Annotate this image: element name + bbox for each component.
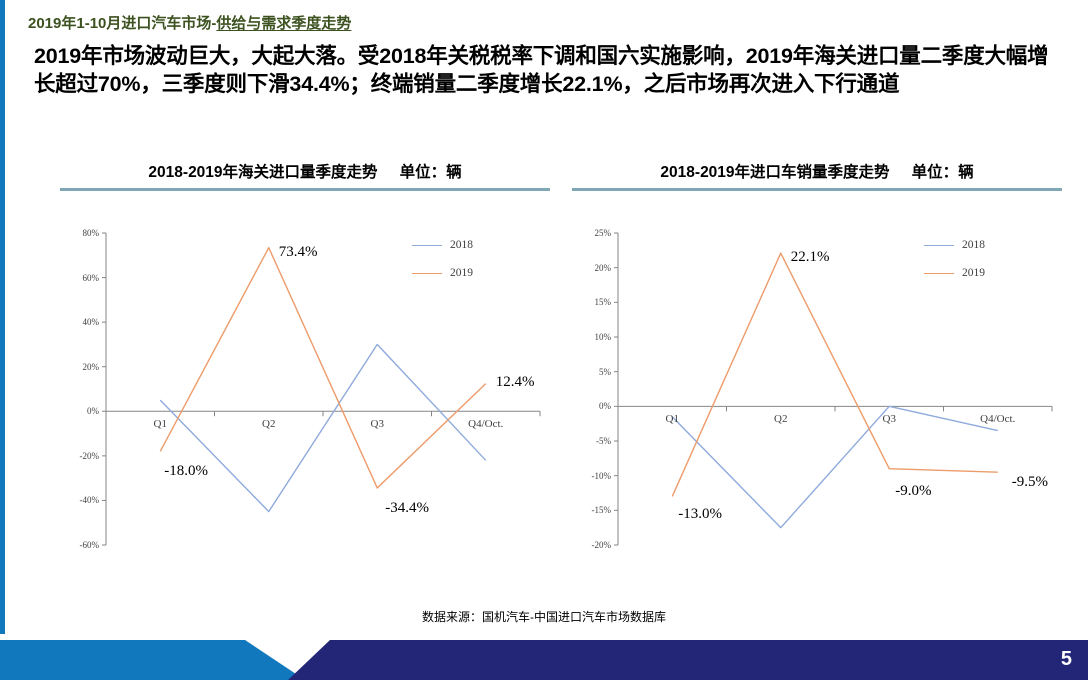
y-axis-tick-label: -40% [60,495,99,505]
x-axis-tick-label: Q1 [154,418,167,430]
footer-shapes [0,634,1088,680]
legend-label: 2018 [962,239,985,251]
data-point-label: 73.4% [279,244,318,261]
y-axis-tick-label: -20% [60,451,99,461]
kicker-underlined-text: 供给与需求季度走势 [216,15,351,32]
y-axis-tick-label: -10% [572,471,611,481]
footer-decoration [0,634,1088,680]
legend-label: 2019 [962,267,985,279]
y-axis-tick-label: 80% [60,228,99,238]
chart-legend: 20182019 [412,239,473,295]
legend-line-swatch [412,273,442,274]
kicker-plain-text: 2019年1-10月进口汽车市场- [28,15,216,32]
data-point-label: -34.4% [385,500,429,517]
data-point-label: -13.0% [678,506,722,523]
y-axis-tick-label: -60% [60,540,99,550]
legend-label: 2018 [450,239,473,251]
legend-item-2018[interactable]: 2018 [924,239,985,251]
page-number: 5 [1061,648,1072,671]
chart-unit-right: 单位：辆 [912,164,974,181]
chart-title-right-text: 2018-2019年进口车销量季度走势 [660,164,889,181]
data-point-label: 22.1% [791,249,830,266]
y-axis-tick-label: 0% [60,406,99,416]
legend-item-2018[interactable]: 2018 [412,239,473,251]
left-accent-stripe [0,0,5,634]
y-axis-tick-label: -5% [572,436,611,446]
legend-line-swatch [924,273,954,274]
y-axis-tick-label: 25% [572,228,611,238]
data-point-label: -18.0% [164,463,208,480]
data-point-label: -9.5% [1012,474,1048,491]
x-axis-tick-label: Q4/Oct. [980,413,1015,425]
x-axis-tick-label: Q2 [774,413,787,425]
y-axis-tick-label: 20% [60,362,99,372]
legend-label: 2019 [450,267,473,279]
chart-unit-left: 单位：辆 [400,164,462,181]
x-axis-tick-label: Q3 [371,418,384,430]
page-title: 2019年市场波动巨大，大起大落。受2018年关税税率下调和国六实施影响，201… [34,42,1068,99]
legend-line-swatch [924,245,954,246]
x-axis-tick-label: Q1 [666,413,679,425]
y-axis-tick-label: 15% [572,297,611,307]
slide-canvas: 2019年1-10月进口汽车市场-供给与需求季度走势 2019年市场波动巨大，大… [0,0,1088,680]
y-axis-tick-label: 5% [572,367,611,377]
y-axis-tick-label: -15% [572,505,611,515]
footer-dark-shape [288,640,1088,680]
y-axis-tick-label: 60% [60,273,99,283]
chart-panel-customs-import-volume: 2018-2019年海关进口量季度走势单位：辆 80%60%40%20%0%-2… [60,160,550,579]
chart-title-right: 2018-2019年进口车销量季度走势单位：辆 [572,160,1062,188]
legend-line-swatch [412,245,442,246]
x-axis-tick-label: Q3 [883,413,896,425]
legend-item-2019[interactable]: 2019 [412,267,473,279]
slide-kicker: 2019年1-10月进口汽车市场-供给与需求季度走势 [28,12,351,33]
y-axis-tick-label: -20% [572,540,611,550]
chart-title-rule-left [60,188,550,191]
data-point-label: -9.0% [895,483,931,500]
x-axis-tick-label: Q4/Oct. [468,418,503,430]
data-source-note: 数据来源：国机汽车-中国进口汽车市场数据库 [0,608,1088,625]
legend-item-2019[interactable]: 2019 [924,267,985,279]
y-axis-tick-label: 40% [60,317,99,327]
y-axis-tick-label: 0% [572,401,611,411]
plot-area-right: 25%20%15%10%5%0%-5%-10%-15%-20%Q1Q2Q3Q4/… [572,219,1062,579]
chart-title-rule-right [572,188,1062,191]
x-axis-tick-label: Q2 [262,418,275,430]
chart-panel-import-car-sales: 2018-2019年进口车销量季度走势单位：辆 25%20%15%10%5%0%… [572,160,1062,579]
y-axis-tick-label: 10% [572,332,611,342]
y-axis-tick-label: 20% [572,263,611,273]
chart-legend: 20182019 [924,239,985,295]
plot-area-left: 80%60%40%20%0%-20%-40%-60%Q1Q2Q3Q4/Oct.-… [60,219,550,579]
data-point-label: 12.4% [496,374,535,391]
chart-title-left: 2018-2019年海关进口量季度走势单位：辆 [60,160,550,188]
chart-title-left-text: 2018-2019年海关进口量季度走势 [148,164,377,181]
